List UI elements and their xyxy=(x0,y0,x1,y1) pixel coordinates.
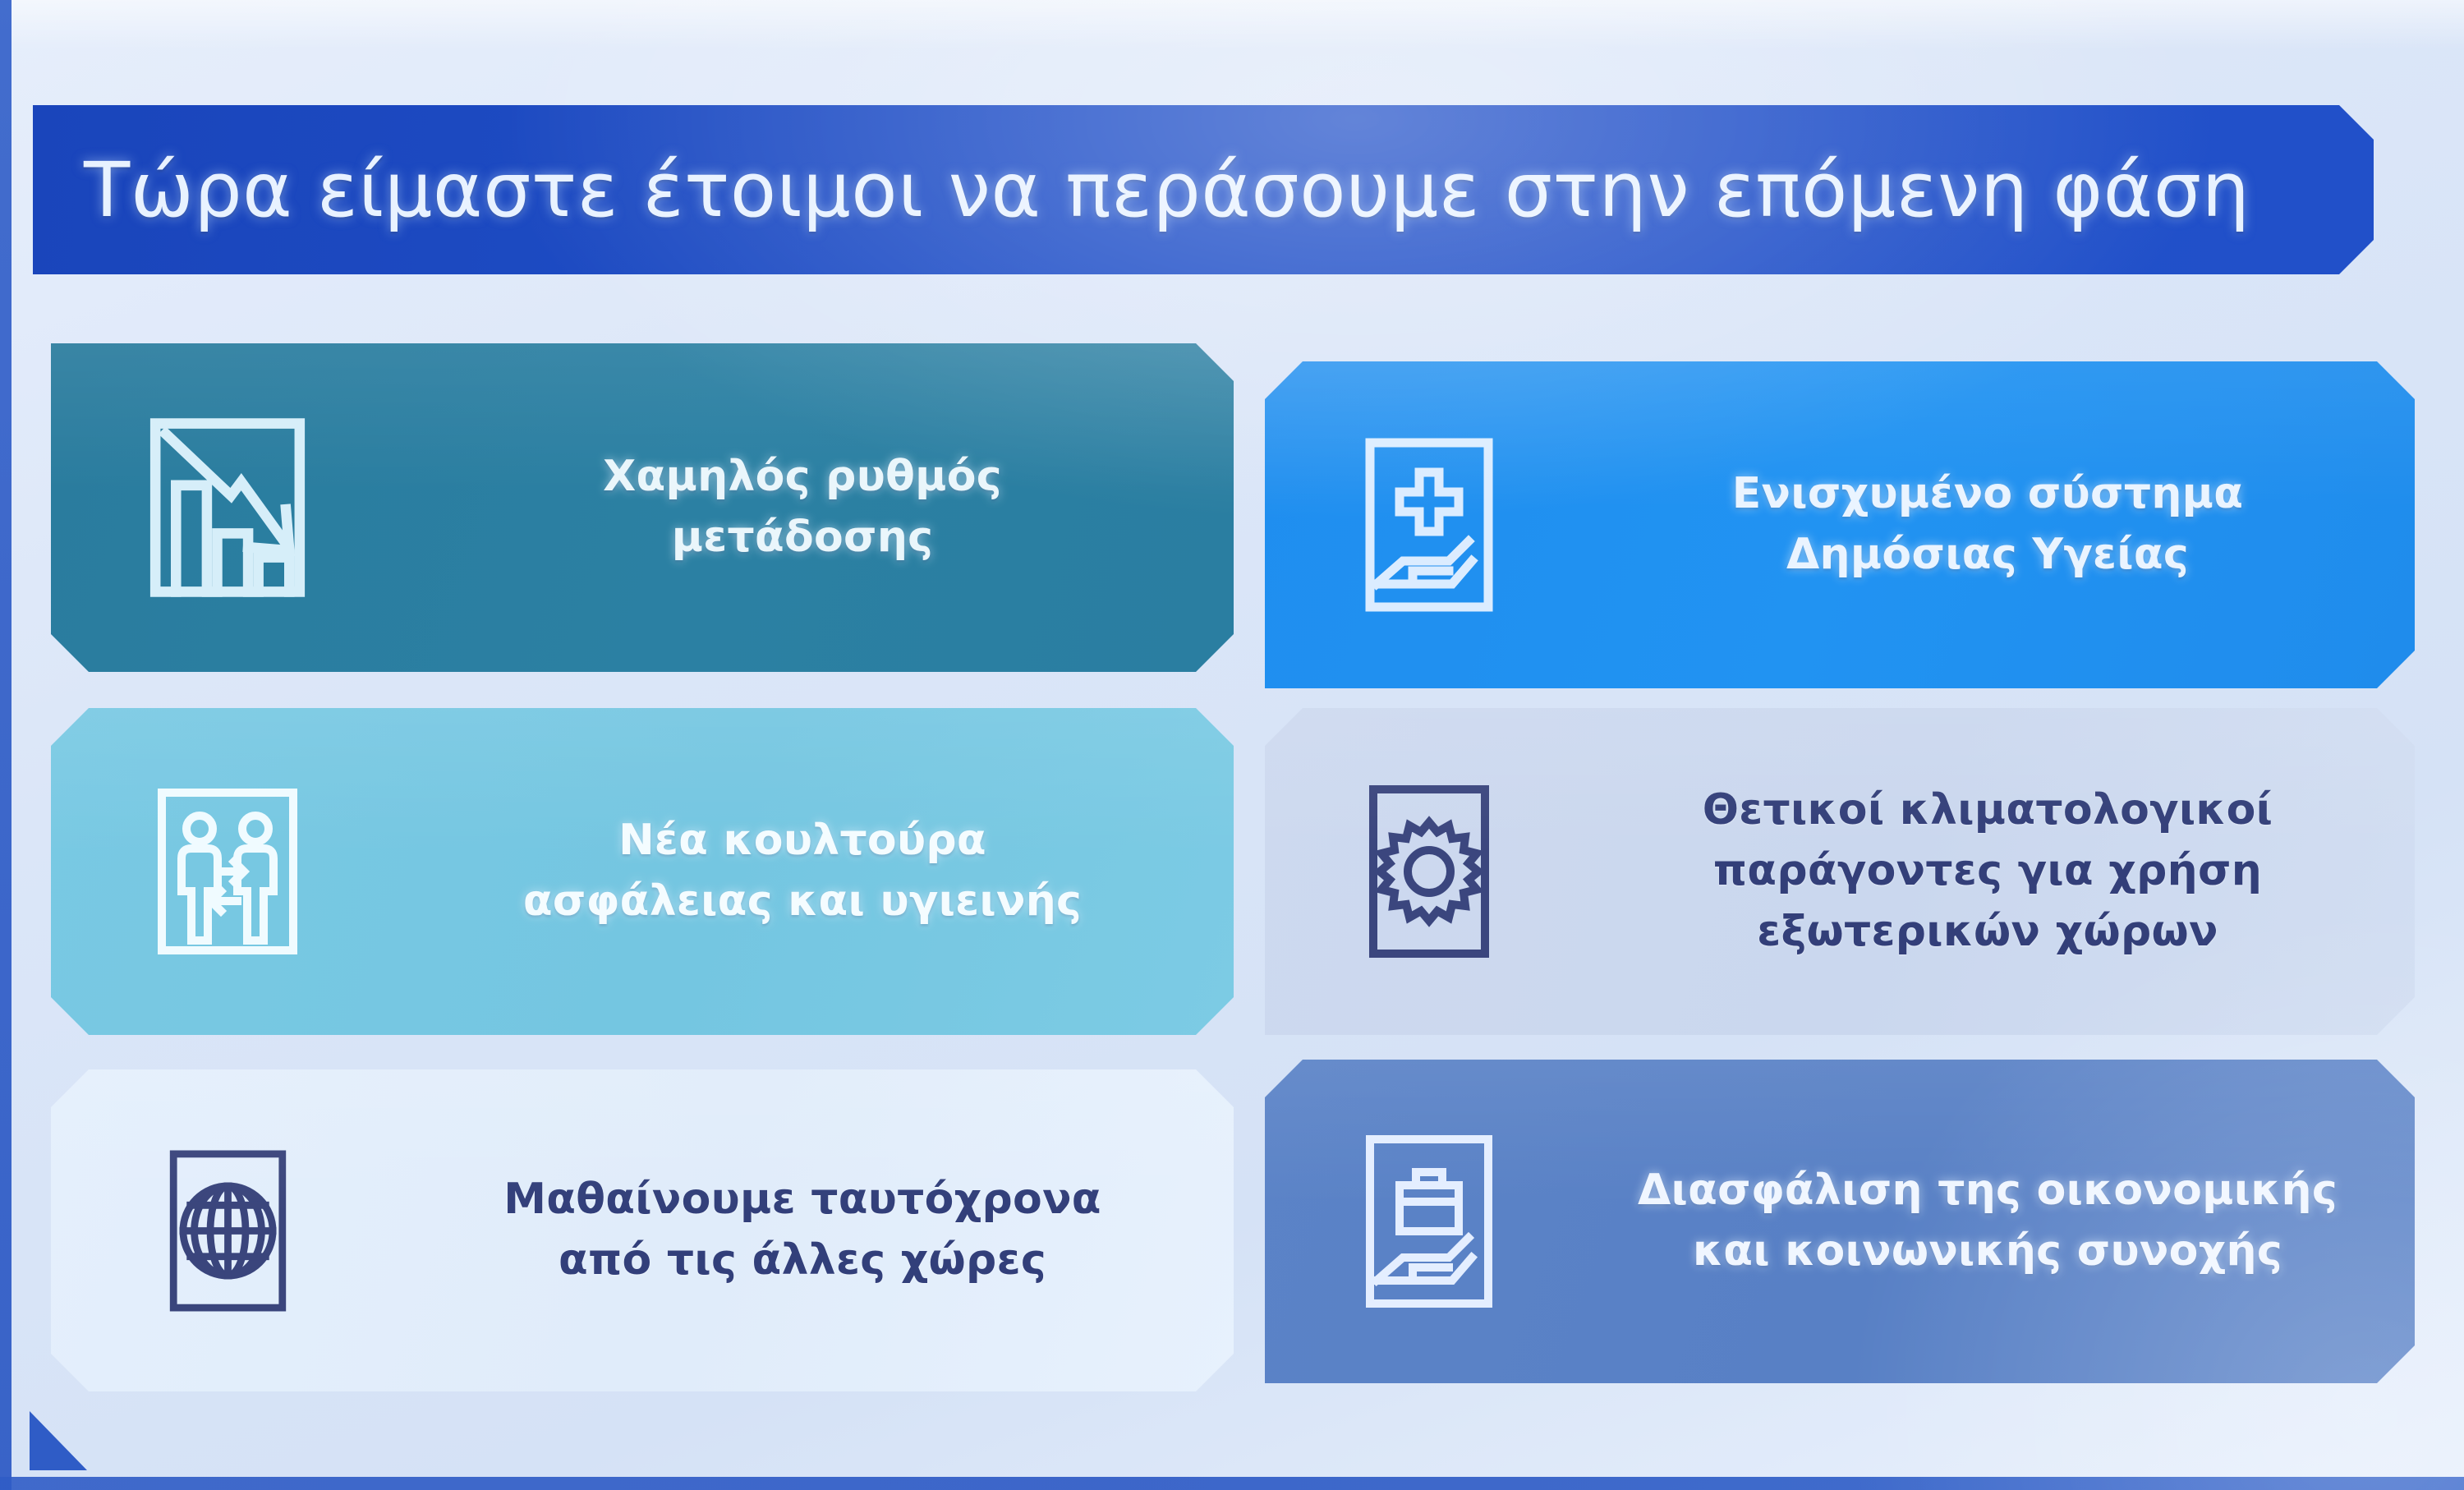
card-label-line: Θετικοί κλιματολογικοί xyxy=(1593,780,2382,841)
hand-with-medical-cross-icon-wrap xyxy=(1265,430,1593,619)
globe-icon xyxy=(148,1143,308,1319)
hand-with-medical-cross-icon xyxy=(1347,430,1511,619)
two-people-distancing-icon-wrap xyxy=(51,781,404,962)
two-people-distancing-icon xyxy=(145,781,310,962)
card-grid: Χαμηλός ρυθμός μετάδοσης Ενισχυμένο xyxy=(0,0,2464,1490)
sun-icon xyxy=(1347,777,1511,966)
left-edge-strip xyxy=(0,0,11,1490)
card-label-line: παράγοντες για χρήση xyxy=(1593,841,2382,902)
card-economic-social-cohesion[interactable]: Διασφάλιση της οικονομικής και κοινωνική… xyxy=(1265,1060,2415,1383)
card-label: Διασφάλιση της οικονομικής και κοινωνική… xyxy=(1593,1161,2415,1282)
card-strengthened-public-health-system[interactable]: Ενισχυμένο σύστημα Δημόσιας Υγείας xyxy=(1265,361,2415,688)
slide-canvas: Τώρα είμαστε έτοιμοι να περάσουμε στην ε… xyxy=(0,0,2464,1490)
card-label: Χαμηλός ρυθμός μετάδοσης xyxy=(404,447,1234,568)
card-label-line: Ενισχυμένο σύστημα xyxy=(1593,464,2382,525)
declining-bar-chart-icon xyxy=(141,413,314,602)
card-label-line: από τις άλλες χώρες xyxy=(404,1230,1201,1291)
card-label-line: Χαμηλός ρυθμός xyxy=(404,447,1201,508)
card-label-line: εξωτερικών χώρων xyxy=(1593,902,2382,963)
card-label-line: και κοινωνικής συνοχής xyxy=(1593,1221,2382,1282)
card-label-line: ασφάλειας και υγιεινής xyxy=(404,871,1201,932)
declining-bar-chart-icon-wrap xyxy=(51,413,404,602)
card-label: Νέα κουλτούρα ασφάλειας και υγιεινής xyxy=(404,811,1234,932)
card-label: Μαθαίνουμε ταυτόχρονα από τις άλλες χώρε… xyxy=(404,1170,1234,1291)
card-label-line: Διασφάλιση της οικονομικής xyxy=(1593,1161,2382,1221)
card-low-transmission-rate[interactable]: Χαμηλός ρυθμός μετάδοσης xyxy=(51,343,1234,672)
bottom-edge-strip xyxy=(0,1477,2464,1490)
card-learning-from-other-countries[interactable]: Μαθαίνουμε ταυτόχρονα από τις άλλες χώρε… xyxy=(51,1069,1234,1391)
briefcase-on-hand-icon-wrap xyxy=(1265,1127,1593,1316)
card-label-line: μετάδοσης xyxy=(404,508,1201,568)
card-label: Θετικοί κλιματολογικοί παράγοντες για χρ… xyxy=(1593,780,2415,962)
globe-icon-wrap xyxy=(51,1143,404,1319)
card-positive-climate-factors-outdoor-spaces[interactable]: Θετικοί κλιματολογικοί παράγοντες για χρ… xyxy=(1265,708,2415,1035)
card-label: Ενισχυμένο σύστημα Δημόσιας Υγείας xyxy=(1593,464,2415,586)
briefcase-on-hand-icon xyxy=(1347,1127,1511,1316)
card-label-line: Δημόσιας Υγείας xyxy=(1593,525,2382,586)
corner-accent-triangle xyxy=(30,1411,87,1470)
sun-icon-wrap xyxy=(1265,777,1593,966)
card-new-safety-hygiene-culture[interactable]: Νέα κουλτούρα ασφάλειας και υγιεινής xyxy=(51,708,1234,1035)
card-label-line: Μαθαίνουμε ταυτόχρονα xyxy=(404,1170,1201,1230)
card-label-line: Νέα κουλτούρα xyxy=(404,811,1201,871)
